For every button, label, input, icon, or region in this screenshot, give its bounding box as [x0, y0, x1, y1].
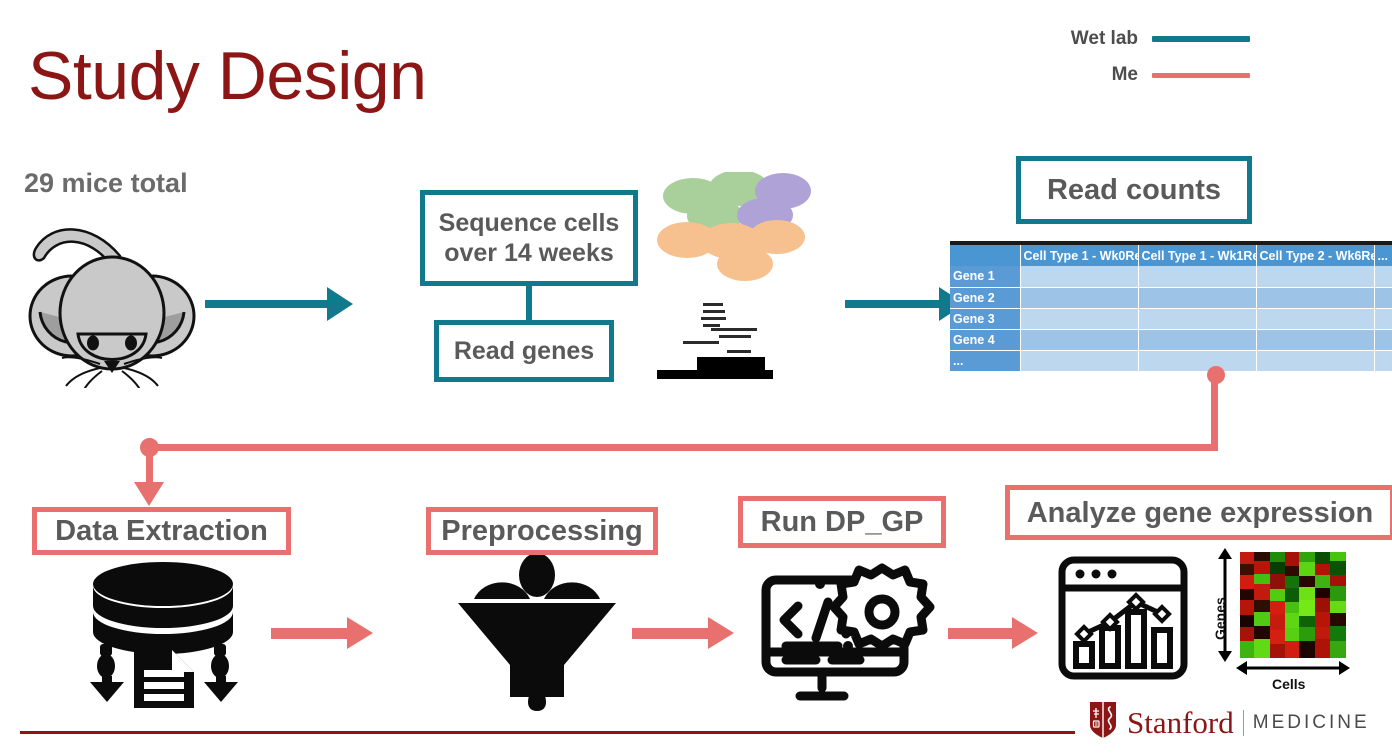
data-extraction-label: Data Extraction	[55, 516, 268, 546]
table-header-col-1: Cell Type 1 - Wk0Rep1	[1020, 245, 1138, 266]
table-cell	[1020, 329, 1138, 350]
footer-divider	[20, 731, 1075, 734]
heatmap-x-axis-label: Cells	[1272, 676, 1305, 692]
run-dpgp-box[interactable]: Run DP_GP	[738, 496, 946, 548]
slide-canvas: Study Design Wet lab Me 29 mice total	[0, 0, 1392, 756]
table-header-blank	[950, 245, 1020, 266]
page-title: Study Design	[28, 38, 426, 114]
table-cell	[1138, 308, 1256, 329]
data-extraction-box[interactable]: Data Extraction	[32, 507, 291, 555]
table-cell	[1256, 329, 1374, 350]
table-cell	[1020, 266, 1138, 287]
preprocessing-box[interactable]: Preprocessing	[426, 507, 658, 555]
logo-divider	[1243, 710, 1244, 736]
mice-count-label: 29 mice total	[24, 168, 188, 199]
arrow-mouse-to-sequence-head	[327, 287, 353, 321]
legend-label-wet-lab: Wet lab	[1071, 28, 1138, 50]
legend-swatch-me	[1152, 73, 1250, 78]
arrow-extraction-to-preprocessing-head	[347, 617, 373, 649]
heatmap-x-axis-arrow	[1236, 658, 1350, 678]
connector-arrow-into-data-extraction	[134, 482, 164, 506]
table-header-col-3: Cell Type 2 - Wk6Rep1	[1256, 245, 1374, 266]
arrow-mouse-to-sequence-line	[205, 300, 329, 308]
preprocessing-label: Preprocessing	[441, 516, 642, 546]
table-cell	[1138, 266, 1256, 287]
table-row[interactable]: Gene 1	[950, 266, 1392, 287]
table-row-label: Gene 3	[950, 308, 1020, 329]
table-row[interactable]: Gene 2	[950, 287, 1392, 308]
connector-sequence-to-read-genes	[526, 286, 532, 322]
arrow-dpgp-to-analyze-head	[1012, 617, 1038, 649]
read-counts-box[interactable]: Read counts	[1016, 156, 1252, 224]
table-row[interactable]: Gene 3	[950, 308, 1392, 329]
table-row-label: Gene 1	[950, 266, 1020, 287]
table-cell	[1020, 287, 1138, 308]
gene-expression-heatmap	[1240, 552, 1346, 658]
table-cell	[1374, 266, 1392, 287]
table-cell	[1374, 308, 1392, 329]
table-cell	[1374, 350, 1392, 371]
table-cell	[1138, 287, 1256, 308]
analyze-gene-expression-label: Analyze gene expression	[1027, 498, 1374, 528]
sequence-cells-label: Sequence cells over 14 weeks	[439, 208, 620, 268]
arrow-reads-to-table-line	[845, 300, 941, 308]
heatmap-y-axis-label: Genes	[1212, 597, 1228, 640]
table-header-row: Cell Type 1 - Wk0Rep1 Cell Type 1 - Wk1R…	[950, 245, 1392, 266]
read-genes-label: Read genes	[454, 336, 594, 366]
table-cell	[1138, 329, 1256, 350]
read-counts-label: Read counts	[1047, 175, 1221, 205]
arrow-dpgp-to-analyze-line	[948, 628, 1014, 639]
legend: Wet lab Me	[1000, 28, 1250, 86]
stanford-medicine-logo: Stanford MEDICINE	[1088, 700, 1370, 745]
arrow-preprocessing-to-dpgp-line	[632, 628, 710, 639]
table-row-label: Gene 2	[950, 287, 1020, 308]
analyze-gene-expression-box[interactable]: Analyze gene expression	[1005, 485, 1392, 540]
mouse-icon	[12, 208, 212, 388]
table-row[interactable]: Gene 4	[950, 329, 1392, 350]
table-row[interactable]: ...	[950, 350, 1392, 371]
table-cell	[1256, 308, 1374, 329]
table-cell	[1374, 329, 1392, 350]
legend-item-wet-lab: Wet lab	[1000, 28, 1250, 50]
code-monitor-gear-icon	[754, 556, 940, 706]
table-cell	[1138, 350, 1256, 371]
legend-item-me: Me	[1000, 64, 1250, 86]
arrow-preprocessing-to-dpgp-head	[708, 617, 734, 649]
connector-vertical-right	[1211, 375, 1218, 451]
read-genes-box[interactable]: Read genes	[434, 320, 614, 382]
medicine-wordmark: MEDICINE	[1253, 712, 1370, 734]
connector-vertical-left	[146, 448, 153, 486]
legend-label-me: Me	[1112, 64, 1138, 86]
table-cell	[1256, 287, 1374, 308]
table-row-label: Gene 4	[950, 329, 1020, 350]
table-cell	[1020, 308, 1138, 329]
stanford-wordmark: Stanford	[1127, 707, 1234, 738]
table-cell	[1256, 266, 1374, 287]
read-counts-table[interactable]: Cell Type 1 - Wk0Rep1 Cell Type 1 - Wk1R…	[950, 245, 1392, 372]
table-row-label: ...	[950, 350, 1020, 371]
table-cell	[1020, 350, 1138, 371]
table-header-col-2: Cell Type 1 - Wk1Rep2	[1138, 245, 1256, 266]
database-download-icon	[68, 560, 258, 708]
table-header-col-4: ...	[1374, 245, 1392, 266]
stanford-shield-icon	[1088, 700, 1118, 745]
sequence-cells-box[interactable]: Sequence cells over 14 weeks	[420, 190, 638, 286]
sequencing-reads-icon	[655, 300, 835, 380]
table-cell	[1256, 350, 1374, 371]
funnel-icon	[442, 555, 632, 711]
run-dpgp-label: Run DP_GP	[761, 507, 924, 537]
legend-swatch-wet-lab	[1152, 36, 1250, 42]
arrow-extraction-to-preprocessing-line	[271, 628, 349, 639]
table-cell	[1374, 287, 1392, 308]
chart-window-icon	[1058, 556, 1188, 680]
connector-horizontal	[148, 444, 1218, 451]
cell-cluster-icon	[655, 172, 835, 282]
